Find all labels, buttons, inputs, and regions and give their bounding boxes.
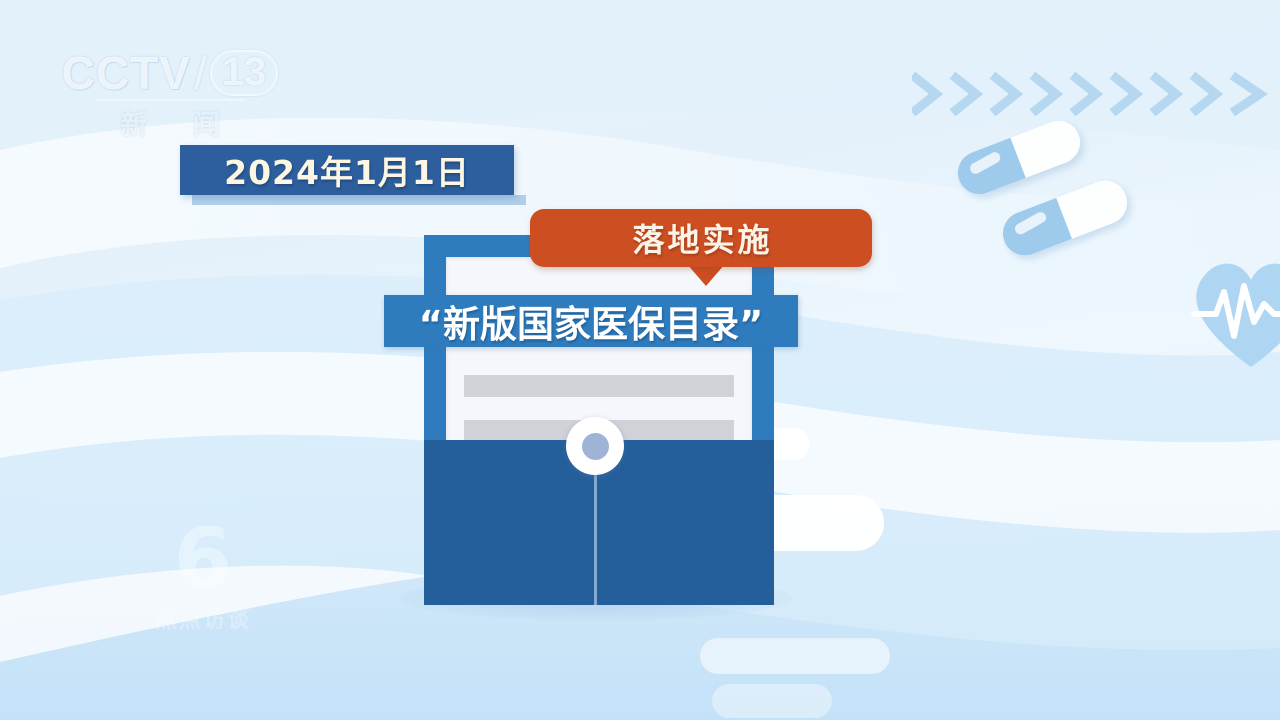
cctv-channel-cn-label: 新 闻 <box>72 103 268 142</box>
cctv-underline <box>95 99 245 101</box>
headline-title-bar: “新版国家医保目录” <box>384 295 798 347</box>
rounded-bar-decor <box>712 684 832 718</box>
program-name-label: 焦点访谈 <box>118 602 288 634</box>
date-banner: 2024年1月1日 <box>180 145 514 195</box>
status-badge: 落地实施 <box>530 209 872 267</box>
cctv-number-ring: 13 <box>210 50 279 96</box>
briefcase-clasp-center <box>582 433 609 460</box>
briefcase-clasp-icon <box>566 417 624 475</box>
cctv-slash: / <box>194 50 207 96</box>
document-text-line <box>464 375 734 397</box>
cctv-channel-logo: CCTV / 13 新 闻 <box>72 50 268 144</box>
rounded-bar-decor <box>700 638 890 674</box>
program-logo-glyph: 6 <box>118 520 288 600</box>
status-badge-pointer <box>687 264 725 286</box>
briefcase-illustration <box>398 235 793 620</box>
date-banner-group: 2024年1月1日 <box>180 145 514 201</box>
news-graphic-stage: CCTV / 13 新 闻 6 焦点访谈 2024年1月1日 <box>0 0 1280 720</box>
cctv-channel-number: 13 <box>222 50 267 94</box>
heart-ecg-icon <box>1186 252 1280 372</box>
cctv-brand-text: CCTV <box>62 50 191 96</box>
cctv-logo-row: CCTV / 13 <box>72 50 268 96</box>
chevron-arrows-icon <box>912 66 1272 122</box>
headline-title-text: “新版国家医保目录” <box>419 294 764 348</box>
status-badge-text: 落地实施 <box>629 215 772 261</box>
status-badge-group: 落地实施 <box>530 209 872 287</box>
date-banner-text: 2024年1月1日 <box>224 146 470 194</box>
program-watermark: 6 焦点访谈 <box>118 520 288 650</box>
date-banner-shadow-bar <box>192 195 526 205</box>
